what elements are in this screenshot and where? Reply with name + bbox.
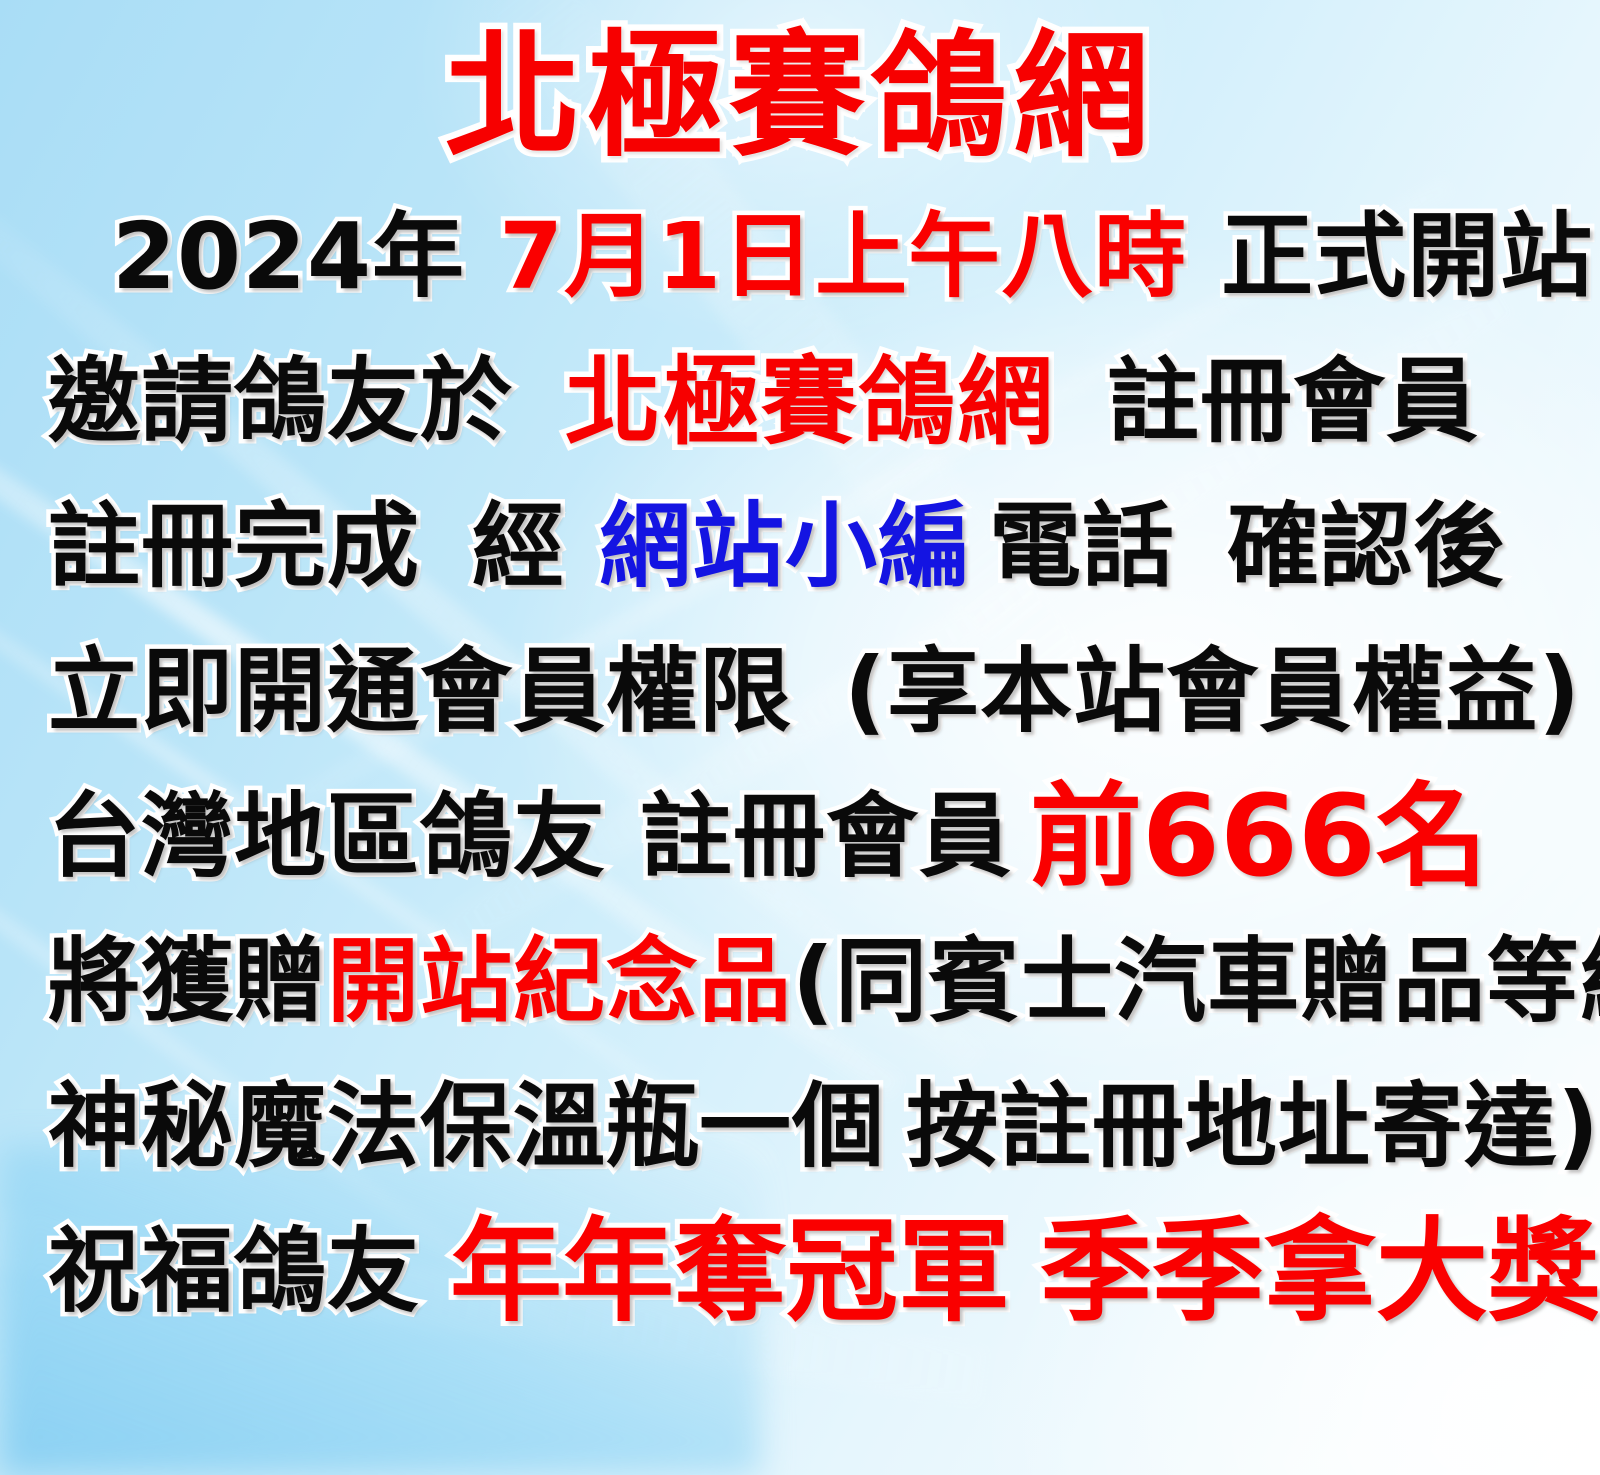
line6-gift-grade: (同賓士汽車贈品等級 [792, 923, 1600, 1041]
line1-year: 2024年 [112, 198, 465, 316]
line8-champion-wish: 年年奪冠軍 [450, 1213, 1010, 1331]
line6-gift-name: 開站紀念品 [327, 923, 792, 1041]
announcement-line-2: 邀請鴿友於 北極賽鴿網 註冊會員 [0, 329, 1600, 474]
line2-invite: 邀請鴿友於 [48, 343, 513, 461]
line8-blessing: 祝福鴿友 [48, 1213, 420, 1331]
line3-confirmed: 確認後 [1227, 488, 1506, 606]
line5-first-666: 前666名 [1030, 778, 1488, 896]
line6-will-receive: 將獲贈 [48, 923, 327, 1041]
line3-editor: 網站小編 [599, 488, 971, 606]
line5-register: 註冊會員 [640, 778, 1012, 896]
announcement-line-7: 神秘魔法保溫瓶一個 按註冊地址寄達) [0, 1054, 1600, 1199]
line2-register: 註冊會員 [1107, 343, 1479, 461]
line8-prize-wish: 季季拿大獎 [1040, 1213, 1600, 1331]
line7-delivery: 按註冊地址寄達) [906, 1068, 1600, 1186]
line2-site-name: 北極賽鴿網 [565, 343, 1055, 461]
announcement-line-5: 台灣地區鴿友 註冊會員 前666名 [0, 764, 1600, 909]
site-title-text: 北極賽鴿網 [445, 16, 1155, 176]
site-title: 北極賽鴿網 [0, 0, 1600, 184]
announcement-line-4: 立即開通會員權限 (享本站會員權益) [0, 619, 1600, 764]
announcement-line-8: 祝福鴿友 年年奪冠軍 季季拿大獎 [0, 1199, 1600, 1344]
line3-via: 經 [472, 488, 565, 606]
announcement-line-3: 註冊完成 經 網站小編 電話 確認後 [0, 474, 1600, 619]
promo-poster: 北極賽鴿網 2024年 7月1日上午八時 正式開站 邀請鴿友於 北極賽鴿網 註冊… [0, 0, 1600, 1475]
announcement-line-1: 2024年 7月1日上午八時 正式開站 [0, 184, 1600, 329]
line1-datetime: 7月1日上午八時 [499, 198, 1187, 316]
announcement-line-6: 將獲贈 開站紀念品 (同賓士汽車贈品等級 [0, 909, 1600, 1054]
line7-gift-item: 神秘魔法保溫瓶一個 [48, 1068, 885, 1186]
line1-launch: 正式開站 [1221, 198, 1593, 316]
line5-taiwan-fanciers: 台灣地區鴿友 [48, 778, 606, 896]
line3-registered: 註冊完成 [48, 488, 420, 606]
line4-activate: 立即開通會員權限 [48, 633, 792, 751]
line3-phone: 電話 [989, 488, 1175, 606]
poster-content: 北極賽鴿網 2024年 7月1日上午八時 正式開站 邀請鴿友於 北極賽鴿網 註冊… [0, 0, 1600, 1344]
line4-benefits: (享本站會員權益) [844, 633, 1581, 751]
